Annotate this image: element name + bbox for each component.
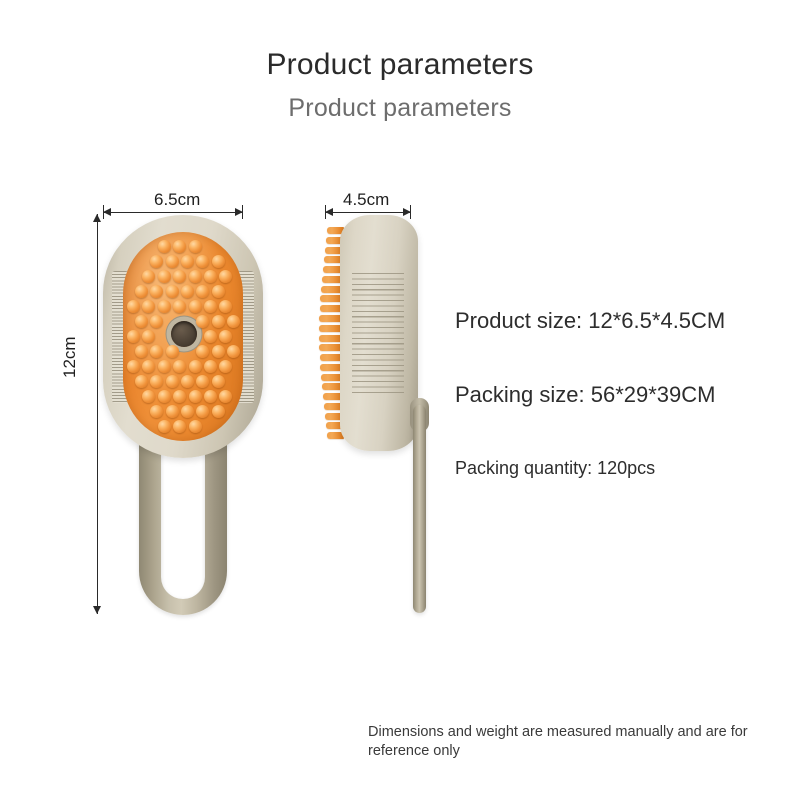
silicone-nub bbox=[181, 285, 194, 298]
silicone-nub bbox=[166, 405, 179, 418]
silicone-nub bbox=[196, 345, 209, 358]
silicone-nub bbox=[173, 360, 186, 373]
arrow-head-down-icon bbox=[93, 606, 101, 614]
silicone-nub bbox=[150, 405, 163, 418]
brush-body-side bbox=[340, 215, 418, 451]
arrow-shaft bbox=[325, 212, 411, 213]
silicone-brush-pad bbox=[123, 232, 243, 441]
silicone-nub bbox=[158, 270, 171, 283]
silicone-nub bbox=[189, 300, 202, 313]
silicone-nub bbox=[181, 375, 194, 388]
silicone-nub bbox=[135, 315, 148, 328]
silicone-nub bbox=[142, 390, 155, 403]
steam-outlet-hole bbox=[171, 321, 197, 347]
silicone-nub bbox=[173, 420, 186, 433]
silicone-nub bbox=[196, 375, 209, 388]
silicone-nub bbox=[189, 420, 202, 433]
silicone-nub bbox=[127, 300, 140, 313]
silicone-nub bbox=[204, 360, 217, 373]
arrow-shaft bbox=[97, 214, 98, 614]
silicone-nub bbox=[219, 300, 232, 313]
silicone-nub bbox=[173, 300, 186, 313]
silicone-nub bbox=[142, 300, 155, 313]
silicone-nub bbox=[227, 345, 240, 358]
silicone-nub bbox=[189, 360, 202, 373]
silicone-nub bbox=[142, 270, 155, 283]
spec-product-size: Product size: 12*6.5*4.5CM bbox=[455, 308, 725, 334]
dimension-label-width: 6.5cm bbox=[154, 190, 200, 210]
product-parameters-page: Product parameters Product parameters 6.… bbox=[0, 0, 800, 800]
page-title: Product parameters bbox=[0, 48, 800, 82]
silicone-nub bbox=[166, 375, 179, 388]
silicone-nub bbox=[212, 345, 225, 358]
comb-ridges-side bbox=[352, 273, 404, 395]
arrow-shaft bbox=[103, 212, 243, 213]
product-side-view bbox=[318, 215, 468, 615]
page-subtitle: Product parameters bbox=[0, 94, 800, 123]
silicone-nub bbox=[212, 375, 225, 388]
spec-packing-size: Packing size: 56*29*39CM bbox=[455, 382, 715, 408]
measurement-disclaimer: Dimensions and weight are measured manua… bbox=[368, 723, 768, 761]
silicone-nub bbox=[196, 405, 209, 418]
silicone-nub bbox=[204, 270, 217, 283]
silicone-nub bbox=[150, 315, 163, 328]
product-handle-side bbox=[413, 405, 426, 613]
dimension-arrow-height bbox=[93, 214, 102, 614]
silicone-nub bbox=[158, 300, 171, 313]
silicone-nub bbox=[196, 255, 209, 268]
silicone-nub bbox=[189, 240, 202, 253]
silicone-nub bbox=[189, 270, 202, 283]
silicone-nub bbox=[204, 330, 217, 343]
silicone-nub bbox=[219, 270, 232, 283]
silicone-nub bbox=[158, 420, 171, 433]
silicone-nub bbox=[219, 330, 232, 343]
silicone-nub bbox=[204, 390, 217, 403]
silicone-nub bbox=[142, 330, 155, 343]
silicone-nub bbox=[212, 255, 225, 268]
silicone-nub bbox=[135, 375, 148, 388]
silicone-nub bbox=[135, 285, 148, 298]
silicone-nub bbox=[173, 390, 186, 403]
silicone-nub bbox=[196, 285, 209, 298]
silicone-nub bbox=[150, 375, 163, 388]
spec-packing-quantity: Packing quantity: 120pcs bbox=[455, 458, 655, 479]
silicone-nub bbox=[227, 315, 240, 328]
silicone-nub bbox=[181, 405, 194, 418]
silicone-nub bbox=[127, 360, 140, 373]
silicone-nub bbox=[127, 330, 140, 343]
silicone-nub bbox=[166, 285, 179, 298]
silicone-nub bbox=[204, 300, 217, 313]
silicone-nub bbox=[181, 255, 194, 268]
dimension-label-height: 12cm bbox=[60, 336, 80, 378]
silicone-nub bbox=[158, 240, 171, 253]
silicone-nub bbox=[212, 285, 225, 298]
silicone-nub bbox=[212, 315, 225, 328]
silicone-nub bbox=[189, 390, 202, 403]
silicone-nub bbox=[150, 345, 163, 358]
silicone-nub bbox=[135, 345, 148, 358]
dimension-label-depth: 4.5cm bbox=[343, 190, 389, 210]
silicone-nub bbox=[150, 255, 163, 268]
brush-head-shell bbox=[103, 215, 263, 458]
silicone-nub bbox=[166, 255, 179, 268]
silicone-nub bbox=[219, 360, 232, 373]
silicone-nub bbox=[212, 405, 225, 418]
silicone-nub bbox=[158, 360, 171, 373]
silicone-nub bbox=[196, 315, 209, 328]
silicone-nub bbox=[158, 390, 171, 403]
silicone-nub bbox=[219, 390, 232, 403]
silicone-nub bbox=[150, 285, 163, 298]
silicone-nub bbox=[173, 240, 186, 253]
silicone-nub bbox=[173, 270, 186, 283]
silicone-nub bbox=[142, 360, 155, 373]
product-front-view bbox=[103, 215, 263, 615]
silicone-nub bbox=[166, 345, 179, 358]
arrow-head-up-icon bbox=[93, 214, 101, 222]
